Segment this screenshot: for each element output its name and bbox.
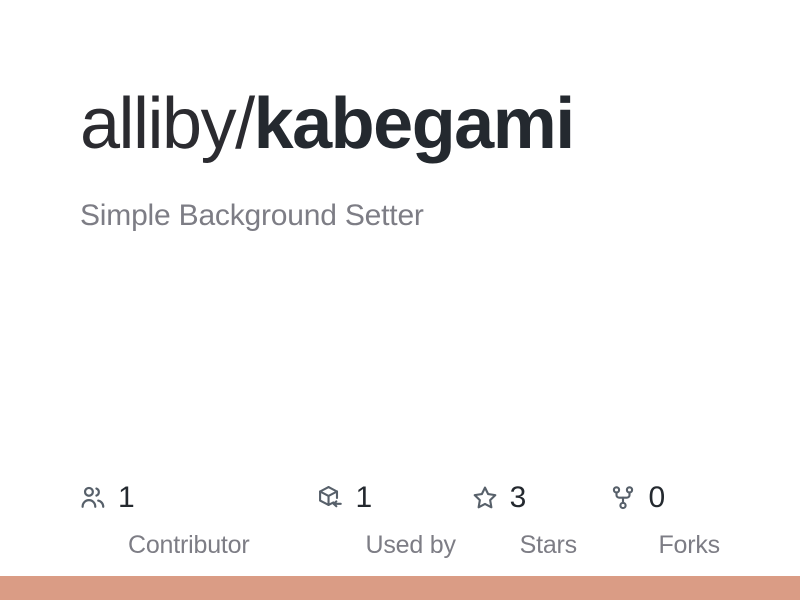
repo-owner: alliby [80, 84, 235, 164]
stat-stars-top: 3 [472, 478, 527, 518]
title-block: alliby/kabegami Simple Background Setter [80, 88, 720, 234]
layout-spacer [80, 234, 720, 478]
stat-forks-label: Forks [658, 533, 720, 558]
stat-stars-label: Stars [520, 533, 577, 558]
stat-contributors-top: 1 [80, 478, 135, 518]
stat-used-by-label: Used by [365, 533, 455, 558]
stat-used-by: 1 Used by [317, 478, 471, 558]
stat-forks-value: 0 [648, 483, 665, 513]
stat-stars-value: 3 [510, 483, 527, 513]
stat-forks: 0 Forks [610, 478, 720, 558]
repo-stats-row: 1 Contributor 1 Used by [80, 478, 720, 558]
stat-used-by-top: 1 [317, 478, 372, 518]
stat-used-by-value: 1 [355, 483, 372, 513]
repo-description: Simple Background Setter [80, 198, 720, 234]
accent-bar [0, 576, 800, 600]
stat-forks-top: 0 [610, 478, 665, 518]
page-title: alliby/kabegami [80, 88, 720, 160]
stat-stars: 3 Stars [472, 478, 611, 558]
stat-contributors-value: 1 [118, 483, 135, 513]
stat-contributors: 1 Contributor [80, 478, 317, 558]
repository-social-card: alliby/kabegami Simple Background Setter… [0, 0, 800, 600]
star-icon [472, 485, 498, 511]
package-used-by-icon [317, 485, 343, 511]
repo-name: kabegami [254, 84, 574, 164]
stat-contributors-label: Contributor [128, 533, 249, 558]
repo-separator: / [235, 84, 254, 164]
people-icon [80, 485, 106, 511]
repo-forked-icon [610, 485, 636, 511]
